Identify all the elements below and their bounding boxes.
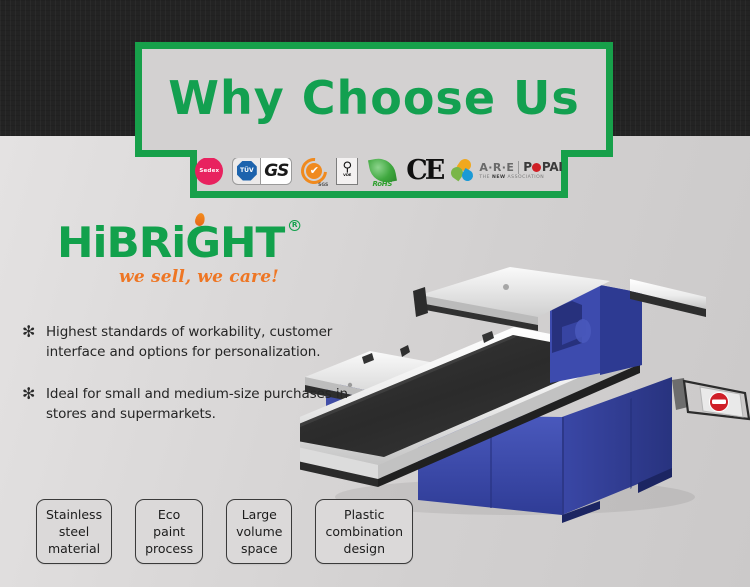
- asterisk-bullet-icon: ✻: [22, 384, 34, 424]
- tuv-badge: TÜV: [233, 158, 260, 184]
- cert-sgs: ✔ SGS: [301, 158, 327, 184]
- benefit-text: Ideal for small and medium-size purchase…: [46, 384, 382, 424]
- list-item: ✻ Highest standards of workability, cust…: [22, 322, 382, 362]
- sgs-icon: ✔ SGS: [301, 158, 327, 184]
- cert-rohs: RoHS: [367, 156, 397, 186]
- tuv-gs-icon: TÜV GS: [232, 157, 292, 185]
- cert-tuv-gs: TÜV GS: [232, 157, 292, 185]
- feature-line: process: [145, 540, 193, 557]
- feature-line: volume: [236, 523, 282, 540]
- feature-line: design: [344, 540, 385, 557]
- are-leaf-mark-icon: [451, 159, 475, 183]
- popai-label: PPAI: [523, 161, 562, 173]
- are-divider: [518, 161, 519, 174]
- cert-are-popai: A·R·E PPAI THE NEW ASSOCIATION: [451, 159, 562, 183]
- are-popai-text: A·R·E PPAI THE NEW ASSOCIATION: [479, 161, 562, 181]
- ce-icon: CE: [406, 157, 442, 184]
- brand-tagline: we sell, we care!: [119, 267, 279, 287]
- are-label: A·R·E: [479, 162, 514, 173]
- asterisk-bullet-icon: ✻: [22, 322, 34, 362]
- sgs-check-icon: ✔: [306, 163, 322, 179]
- cert-ce: CE: [406, 157, 442, 184]
- gs-badge: GS: [260, 158, 291, 184]
- are-popai-subtitle: THE NEW ASSOCIATION: [479, 176, 562, 181]
- feature-line: combination: [325, 523, 403, 540]
- page-title: Why Choose Us: [142, 49, 606, 150]
- feature-badge-row: Stainless steel material Eco paint proce…: [36, 499, 413, 564]
- benefit-text: Highest standards of workability, custom…: [46, 322, 382, 362]
- poster-canvas: Sedex TÜV GS ✔ SGS ⚲: [0, 0, 750, 587]
- feature-line: space: [241, 540, 278, 557]
- feature-line: paint: [153, 523, 185, 540]
- frame-join-mask: [197, 150, 561, 158]
- vde-label: VDE: [343, 174, 351, 178]
- cert-vde: ⚲ VDE: [336, 157, 358, 185]
- tuv-octagon-icon: TÜV: [237, 161, 257, 181]
- benefit-list: ✻ Highest standards of workability, cust…: [22, 322, 382, 446]
- sedex-icon: Sedex: [195, 157, 223, 185]
- vde-icon: ⚲ VDE: [336, 157, 358, 185]
- feature-line: material: [48, 540, 100, 557]
- brand-wordmark: HiBRiGHT R: [57, 222, 284, 264]
- are-popai-top-line: A·R·E PPAI: [479, 161, 562, 174]
- feature-line: Large: [242, 506, 277, 523]
- feature-badge-large-volume-space: Large volume space: [226, 499, 292, 564]
- rohs-icon: RoHS: [367, 156, 397, 186]
- popai-o-icon: [532, 163, 541, 172]
- feature-badge-eco-paint-process: Eco paint process: [135, 499, 203, 564]
- brand-wordmark-text: HiBRiGHT: [57, 218, 284, 267]
- vde-plug-icon: ⚲: [343, 163, 353, 173]
- title-frame: Why Choose Us: [135, 42, 613, 157]
- cert-sedex: Sedex: [195, 157, 223, 185]
- are-popai-icon: A·R·E PPAI THE NEW ASSOCIATION: [451, 159, 562, 183]
- feature-line: Stainless: [46, 506, 102, 523]
- list-item: ✻ Ideal for small and medium-size purcha…: [22, 384, 382, 424]
- brand-logo: HiBRiGHT R we sell, we care!: [57, 222, 279, 287]
- feature-badge-stainless-steel-material: Stainless steel material: [36, 499, 112, 564]
- feature-line: Eco: [158, 506, 180, 523]
- rohs-label: RoHS: [367, 180, 397, 188]
- sgs-label: SGS: [318, 183, 328, 188]
- feature-line: Plastic: [344, 506, 384, 523]
- feature-line: steel: [59, 523, 89, 540]
- feature-badge-plastic-combination-design: Plastic combination design: [315, 499, 413, 564]
- registered-trademark-icon: R: [288, 220, 299, 231]
